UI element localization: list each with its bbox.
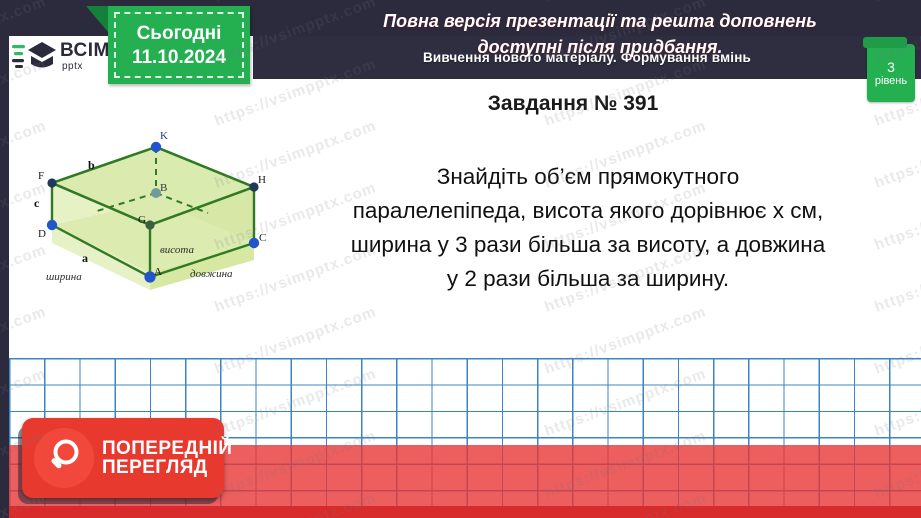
svg-text:H: H bbox=[258, 174, 266, 186]
svg-text:c: c bbox=[34, 196, 40, 210]
task-line-2: паралелепіпеда, висота якого дорівнює х … bbox=[283, 194, 893, 228]
task-line-4: у 2 рази більша за ширину. bbox=[283, 262, 893, 296]
badge-fold-corner bbox=[86, 6, 108, 32]
svg-text:a: a bbox=[82, 251, 88, 265]
svg-text:K: K bbox=[160, 130, 168, 142]
date-badge: Сьогодні 11.10.2024 bbox=[108, 6, 250, 84]
level-badge-number: 3 bbox=[887, 60, 895, 74]
banner-line-1: Повна версія презентації та решта доповн… bbox=[300, 8, 900, 34]
grid-top-border bbox=[9, 358, 921, 359]
banner-bottom-strip bbox=[9, 506, 921, 518]
svg-text:висота: висота bbox=[160, 244, 194, 256]
svg-text:ширина: ширина bbox=[46, 271, 82, 283]
purchase-notice-text: Повна версія презентації та решта доповн… bbox=[300, 8, 900, 60]
level-badge-word: рівень bbox=[875, 76, 907, 87]
date-badge-date: 11.10.2024 bbox=[132, 48, 226, 67]
level-badge: 3 рівень bbox=[867, 44, 915, 102]
brand-logo: ВСІМ pptx bbox=[12, 33, 122, 79]
slide-root: ВСІМ pptx Сьогодні 11.10.2024 Вивчення н… bbox=[0, 0, 921, 518]
logo-subtitle: pptx bbox=[62, 62, 110, 72]
magnifier-icon bbox=[34, 428, 94, 488]
preview-button-line-1: ПОПЕРЕДНІЙ bbox=[102, 439, 232, 458]
preview-button[interactable]: ПОПЕРЕДНІЙ ПЕРЕГЛЯД bbox=[22, 418, 224, 498]
task-text: Знайдіть об’єм прямокутного паралелепіпе… bbox=[283, 160, 893, 296]
banner-line-2: доступні після придбання. bbox=[300, 34, 900, 60]
svg-text:довжина: довжина bbox=[190, 268, 233, 280]
svg-text:b: b bbox=[88, 158, 95, 172]
graduation-cap-icon bbox=[12, 39, 56, 73]
task-line-1: Знайдіть об’єм прямокутного bbox=[283, 160, 893, 194]
svg-text:C: C bbox=[259, 232, 266, 244]
left-dark-strip bbox=[0, 0, 9, 518]
svg-text:A: A bbox=[154, 266, 162, 278]
logo-wordmark: ВСІМ bbox=[60, 41, 110, 60]
preview-button-line-2: ПЕРЕГЛЯД bbox=[102, 458, 232, 477]
level-badge-tab bbox=[863, 37, 907, 48]
rectangular-parallelepiped-diagram: K F H D C G A B b c a ширина висота довж… bbox=[22, 125, 284, 290]
svg-text:B: B bbox=[160, 182, 167, 194]
task-line-3: ширина у 3 рази більша за висоту, а довж… bbox=[283, 228, 893, 262]
date-badge-label: Сьогодні bbox=[137, 24, 222, 43]
svg-text:G: G bbox=[138, 214, 146, 226]
svg-text:F: F bbox=[38, 170, 44, 182]
svg-text:D: D bbox=[38, 228, 46, 240]
page-title: Завдання № 391 bbox=[253, 92, 893, 116]
